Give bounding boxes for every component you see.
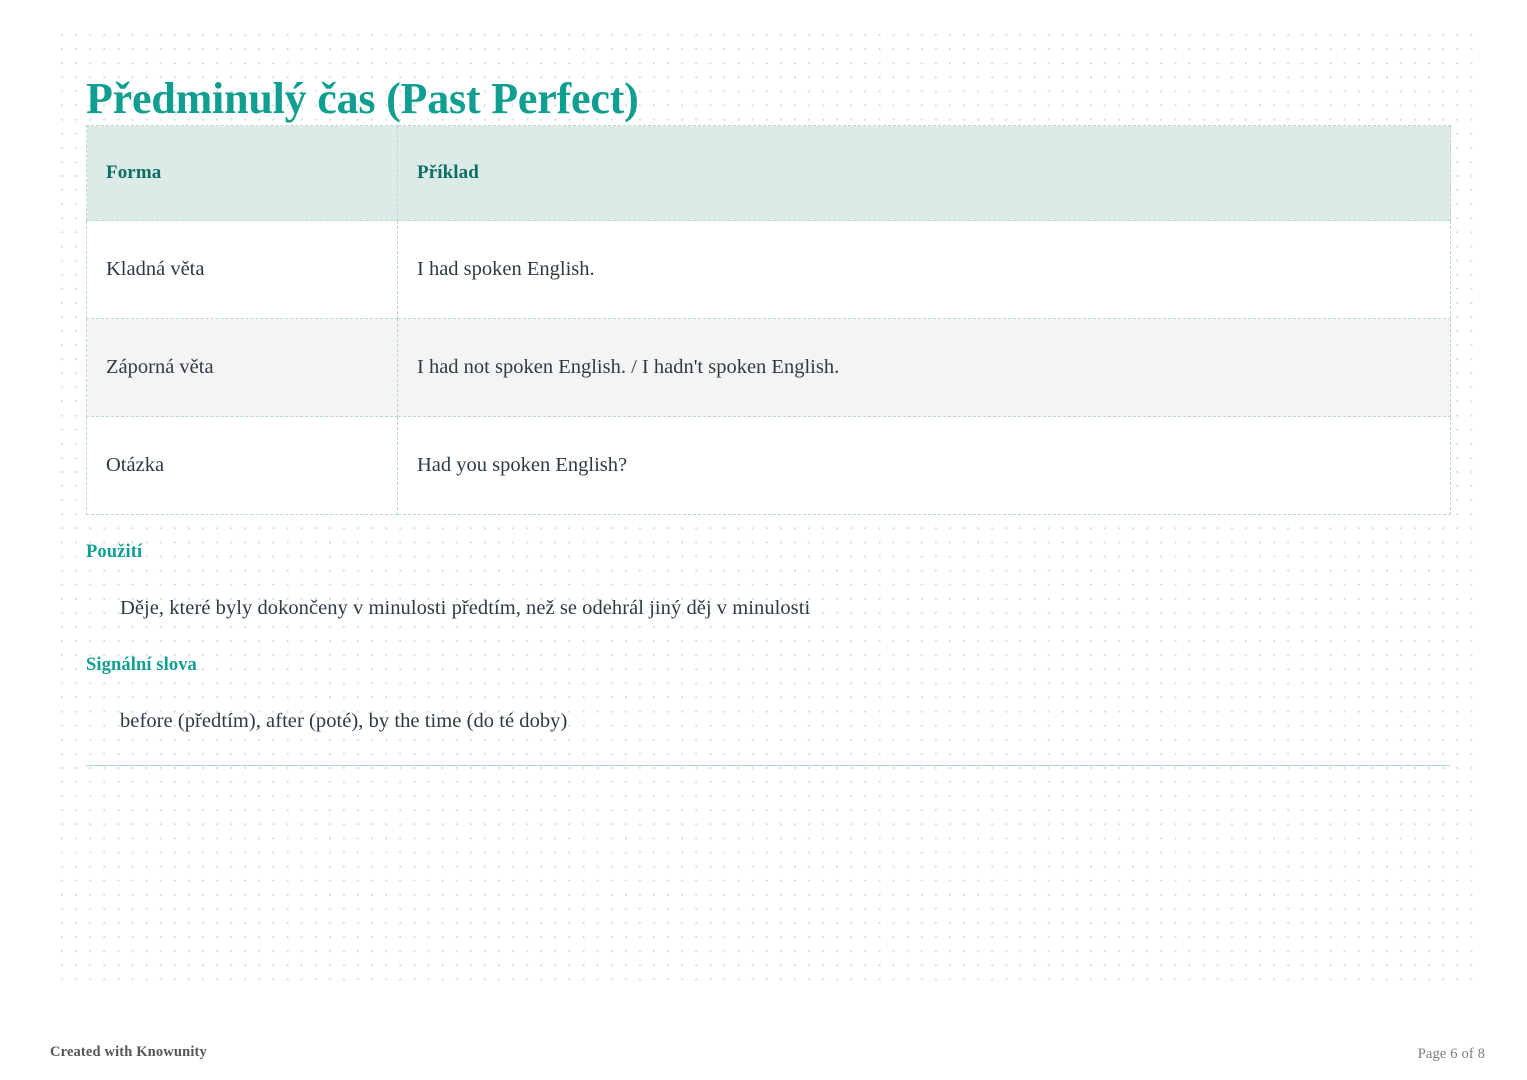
table-body: Kladná věta I had spoken English. Záporn… — [87, 221, 1451, 515]
table-row: Kladná věta I had spoken English. — [87, 221, 1451, 319]
page-canvas: Předminulý čas (Past Perfect) Forma Přík… — [0, 0, 1527, 1080]
table-row: Záporná věta I had not spoken English. /… — [87, 319, 1451, 417]
cell-form-negative: Záporná věta — [87, 319, 398, 417]
cell-form-affirmative: Kladná věta — [87, 221, 398, 319]
cell-example-question: Had you spoken English? — [398, 417, 1451, 515]
section-heading-pouziti: Použití — [86, 542, 142, 563]
section-text-pouziti: Děje, které byly dokončeny v minulosti p… — [120, 597, 810, 620]
page-title: Předminulý čas (Past Perfect) — [86, 75, 639, 123]
column-header-priklad: Příklad — [398, 126, 1451, 221]
table-row: Otázka Had you spoken English? — [87, 417, 1451, 515]
cell-form-question: Otázka — [87, 417, 398, 515]
grammar-forms-table: Forma Příklad Kladná věta I had spoken E… — [86, 125, 1451, 515]
footer-attribution: Created with Knowunity — [50, 1044, 207, 1061]
cell-example-affirmative: I had spoken English. — [398, 221, 1451, 319]
footer-divider-rule — [86, 765, 1450, 766]
section-heading-signalni-slova: Signální slova — [86, 655, 197, 676]
table-header: Forma Příklad — [87, 126, 1451, 221]
cell-example-negative: I had not spoken English. / I hadn't spo… — [398, 319, 1451, 417]
column-header-forma: Forma — [87, 126, 398, 221]
table-header-row: Forma Příklad — [87, 126, 1451, 221]
footer-page-number: Page 6 of 8 — [1418, 1046, 1485, 1063]
section-text-signalni-slova: before (předtím), after (poté), by the t… — [120, 710, 567, 733]
